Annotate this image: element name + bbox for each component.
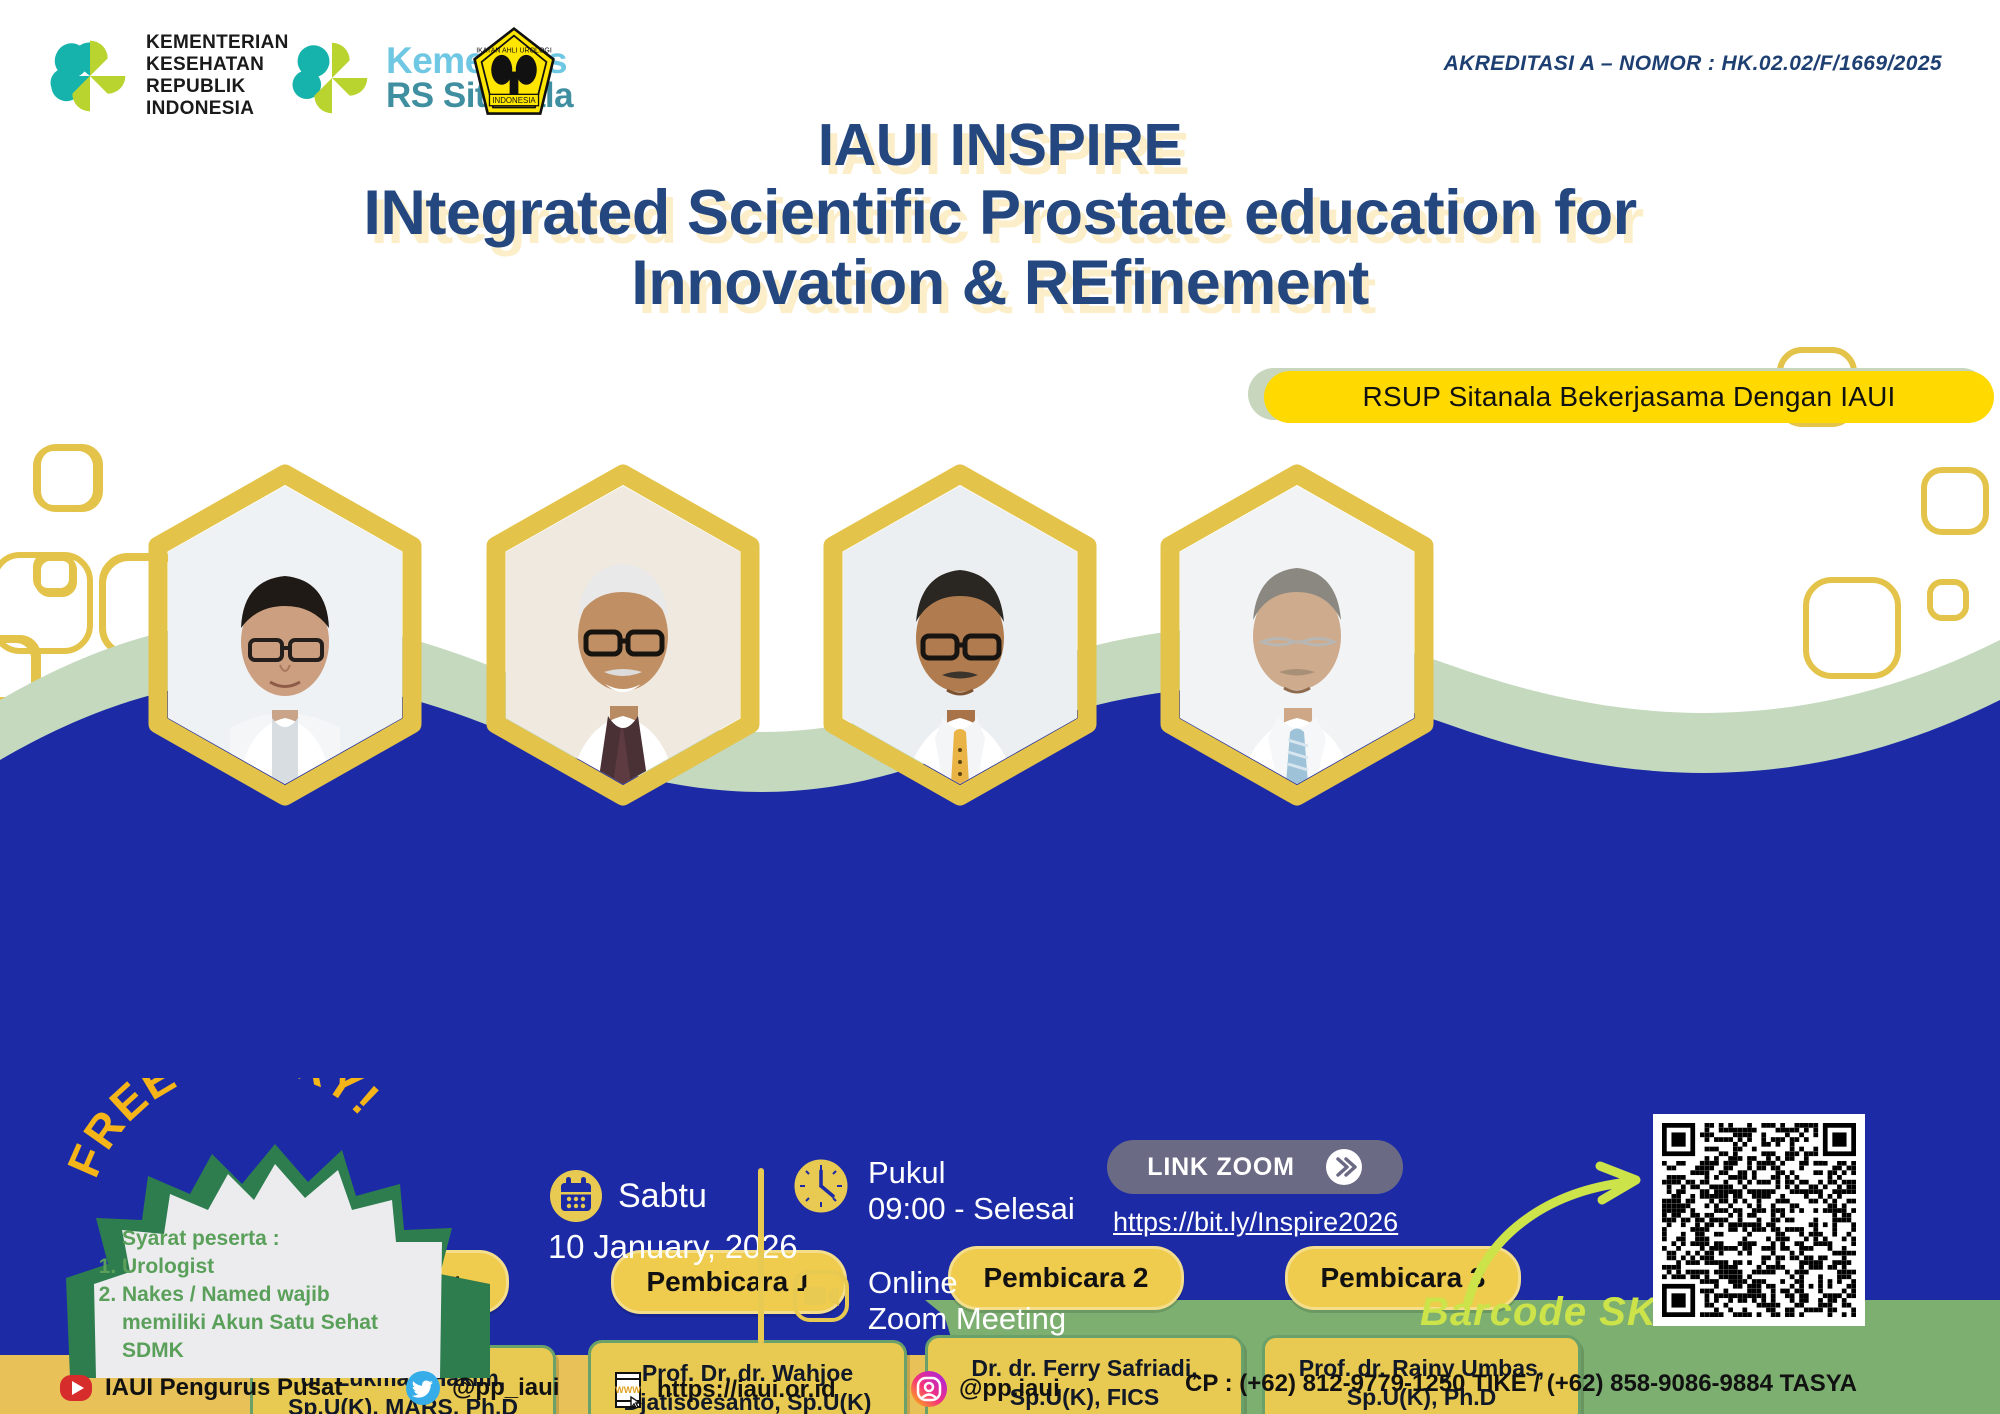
link-zoom-button[interactable]: LINK ZOOM — [1107, 1140, 1403, 1194]
banner-text: RSUP Sitanala Bekerjasama Dengan IAUI — [1363, 381, 1896, 413]
time-value: 09:00 - Selesai — [868, 1191, 1075, 1227]
ministry-line-3: REPUBLIK — [146, 76, 289, 98]
requirements-list: Urologist Nakes / Named wajib memiliki A… — [96, 1253, 406, 1365]
zoom-url-link[interactable]: https://bit.ly/Inspire2026 — [1113, 1207, 1398, 1238]
mode-label: Online — [868, 1265, 1066, 1301]
skp-qr-code[interactable] — [1653, 1114, 1865, 1326]
collaboration-banner: RSUP Sitanala Bekerjasama Dengan IAUI — [1264, 371, 1994, 423]
footer-contact: CP : (+62) 812-9779-1250 TIKE / (+62) 85… — [1185, 1370, 1857, 1398]
footer-instagram-label: @pp.iaui — [959, 1375, 1060, 1403]
requirement-item: Nakes / Named wajib memiliki Akun Satu S… — [122, 1281, 406, 1365]
curved-arrow-icon — [1450, 1160, 1680, 1310]
speaker-card-moderator: Moderator dr. Lukman Hakim, Sp.U(K), MAR… — [110, 460, 460, 810]
vertical-divider — [758, 1168, 764, 1344]
ministry-line-2: KESEHATAN — [146, 54, 289, 76]
footer-instagram[interactable]: @pp.iaui — [910, 1370, 1060, 1408]
svg-text:IKATAN AHLI UROLOGI: IKATAN AHLI UROLOGI — [476, 47, 552, 54]
kemenkes-ministry-logo: KEMENTERIAN KESEHATAN REPUBLIK INDONESIA — [48, 32, 289, 120]
title-line-2: INtegrated Scientific Prostate education… — [0, 181, 2000, 245]
twitter-icon — [405, 1370, 441, 1406]
time-label: Pukul — [868, 1155, 1075, 1191]
requirements-heading: Syarat peserta : — [122, 1225, 406, 1253]
title-line-3: Innovation & REfinement — [0, 251, 2000, 315]
requirement-item: Urologist — [122, 1253, 406, 1281]
poster-title: IAUI INSPIRE INtegrated Scientific Prost… — [0, 115, 2000, 316]
speaker-card-2: Pembicara 2 Dr. dr. Ferry Safriadi, Sp.U… — [785, 460, 1135, 810]
event-mode-block: Online Zoom Meeting — [790, 1265, 1066, 1337]
barcode-caption: Barcode SKP — [1420, 1290, 1684, 1335]
www-browser-icon: WWW — [610, 1370, 646, 1410]
poster-root: KEMENTERIAN KESEHATAN REPUBLIK INDONESIA… — [0, 0, 2000, 1414]
footer-website-label: https://iaui.or.id — [657, 1376, 836, 1404]
svg-text:INDONESIA: INDONESIA — [492, 96, 536, 105]
speaker-card-3: Pembicara 3 Prof. dr. Rainy Umbas, Sp.U(… — [1122, 460, 1472, 810]
calendar-icon — [548, 1168, 604, 1224]
video-camera-icon — [790, 1265, 852, 1327]
hexagon-frame-icon — [1132, 460, 1462, 810]
mode-value: Zoom Meeting — [868, 1301, 1066, 1337]
link-zoom-label: LINK ZOOM — [1147, 1153, 1294, 1182]
pembicara1-photo-hex — [458, 460, 788, 810]
ministry-name-text: KEMENTERIAN KESEHATAN REPUBLIK INDONESIA — [146, 32, 289, 120]
youtube-icon — [58, 1370, 94, 1406]
footer-twitter[interactable]: @pp_iaui — [405, 1370, 559, 1406]
accreditation-number: AKREDITASI A – NOMOR : HK.02.02/F/1669/2… — [1444, 52, 1942, 76]
footer-twitter-label: @pp_iaui — [452, 1374, 559, 1402]
clock-icon — [790, 1155, 852, 1217]
footer-youtube-label: IAUI Pengurus Pusat — [105, 1374, 342, 1402]
pembicara2-photo-hex — [795, 460, 1125, 810]
ministry-line-1: KEMENTERIAN — [146, 32, 289, 54]
requirements-block: Syarat peserta : Urologist Nakes / Named… — [96, 1225, 406, 1365]
footer-website[interactable]: WWW https://iaui.or.id — [610, 1370, 836, 1410]
pembicara3-photo-hex — [1132, 460, 1462, 810]
footer-youtube[interactable]: IAUI Pengurus Pusat — [58, 1370, 342, 1406]
kemenkes-flower-icon — [48, 34, 132, 118]
title-line-1: IAUI INSPIRE — [0, 115, 2000, 175]
role-label: Pembicara 1 — [647, 1266, 812, 1298]
event-date: 10 January, 2026 — [548, 1228, 818, 1266]
svg-text:WWW: WWW — [615, 1385, 641, 1395]
event-time-block: Pukul 09:00 - Selesai — [790, 1155, 1075, 1227]
moderator-photo-hex — [120, 460, 450, 810]
hexagon-frame-icon — [120, 460, 450, 810]
speaker-card-1: Pembicara 1 Prof. Dr. dr. Wahjoe Djatiso… — [448, 460, 798, 810]
instagram-icon — [910, 1370, 948, 1408]
header: KEMENTERIAN KESEHATAN REPUBLIK INDONESIA… — [0, 0, 2000, 130]
double-chevron-right-icon — [1325, 1148, 1363, 1186]
hexagon-frame-icon — [795, 460, 1125, 810]
hexagon-frame-icon — [458, 460, 788, 810]
sitanala-flower-icon — [290, 36, 374, 120]
event-day: Sabtu — [618, 1177, 707, 1216]
iaui-pentagon-logo-icon: IKATAN AHLI UROLOGI INDONESIA — [470, 26, 558, 118]
event-date-block: Sabtu 10 January, 2026 — [548, 1168, 818, 1266]
